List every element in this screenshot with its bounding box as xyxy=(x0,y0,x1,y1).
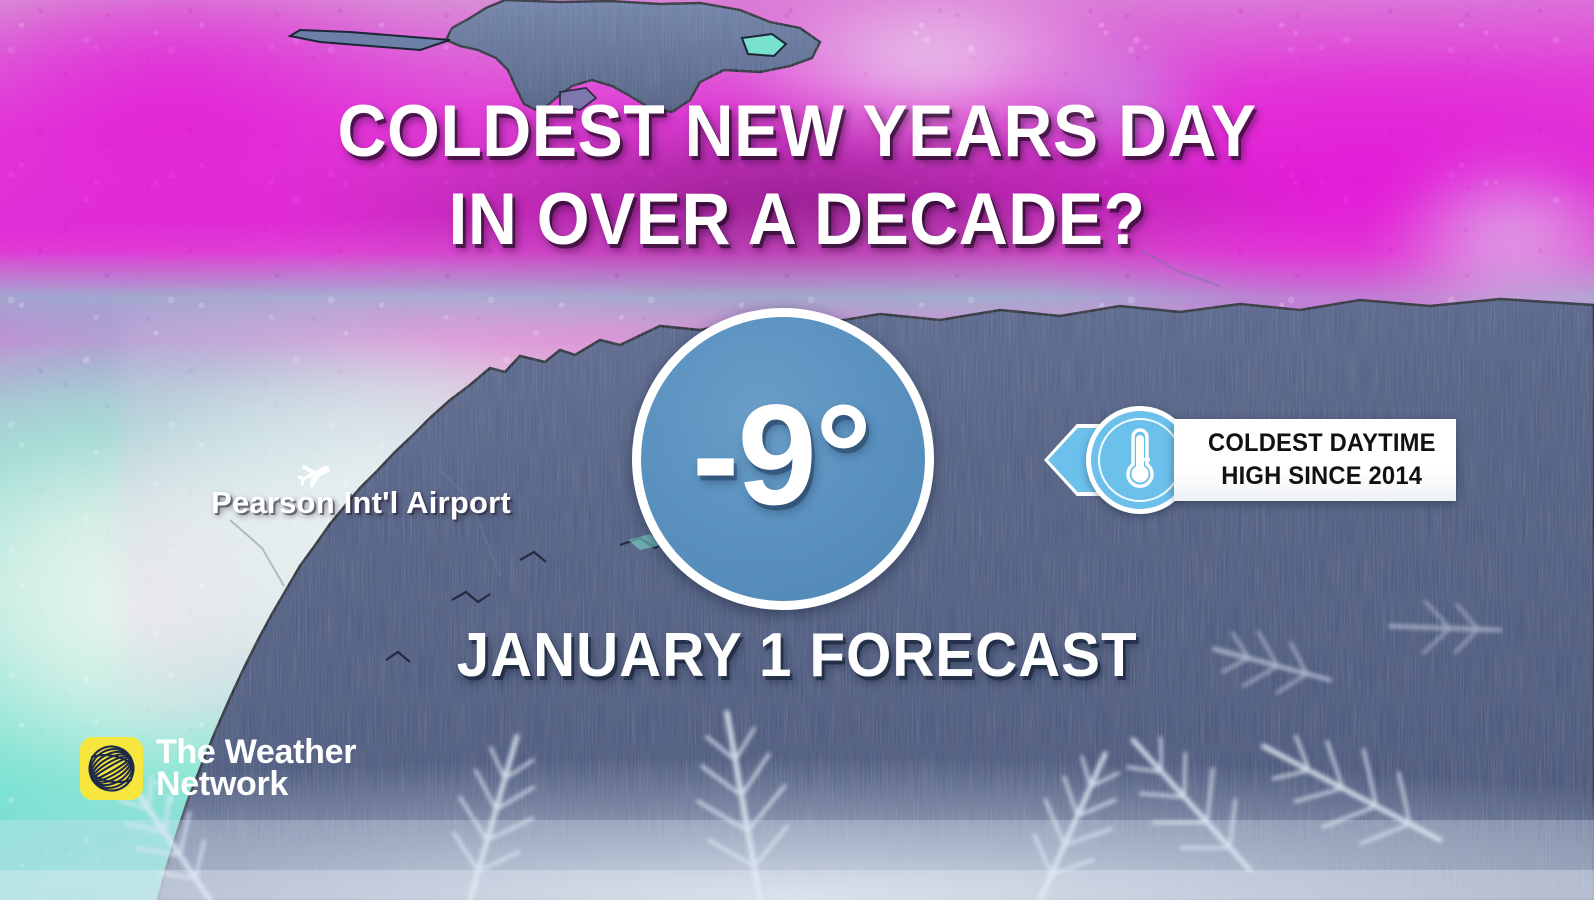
brand-logo: The Weather Network xyxy=(80,736,356,800)
brand-logo-text: The Weather Network xyxy=(156,736,356,800)
weather-graphic: COLDEST NEW YEARS DAY IN OVER A DECADE? … xyxy=(0,0,1594,900)
airport-label-text: Pearson Int'l Airport xyxy=(196,485,526,521)
airplane-icon xyxy=(288,455,332,489)
callout-line-2: HIGH SINCE 2014 xyxy=(1222,460,1423,493)
headline-line-1: COLDEST NEW YEARS DAY xyxy=(56,88,1538,176)
forecast-subtitle: JANUARY 1 FORECAST xyxy=(0,620,1594,691)
thermometer-icon xyxy=(1120,425,1160,496)
brand-line-1: The Weather xyxy=(156,736,356,768)
brand-line-2: Network xyxy=(156,768,356,800)
callout-panel: COLDEST DAYTIME HIGH SINCE 2014 xyxy=(1174,419,1456,501)
temperature-badge: -9° xyxy=(632,308,934,610)
forecast-subtitle-text: JANUARY 1 FORECAST xyxy=(457,620,1138,691)
temperature-value: -9° xyxy=(692,384,870,527)
callout-line-1: COLDEST DAYTIME xyxy=(1208,427,1436,460)
headline-line-2: IN OVER A DECADE? xyxy=(56,176,1538,264)
map-marker-pearson-airport: Pearson Int'l Airport xyxy=(196,455,526,521)
globe-icon xyxy=(80,737,143,800)
headline: COLDEST NEW YEARS DAY IN OVER A DECADE? xyxy=(0,88,1594,264)
